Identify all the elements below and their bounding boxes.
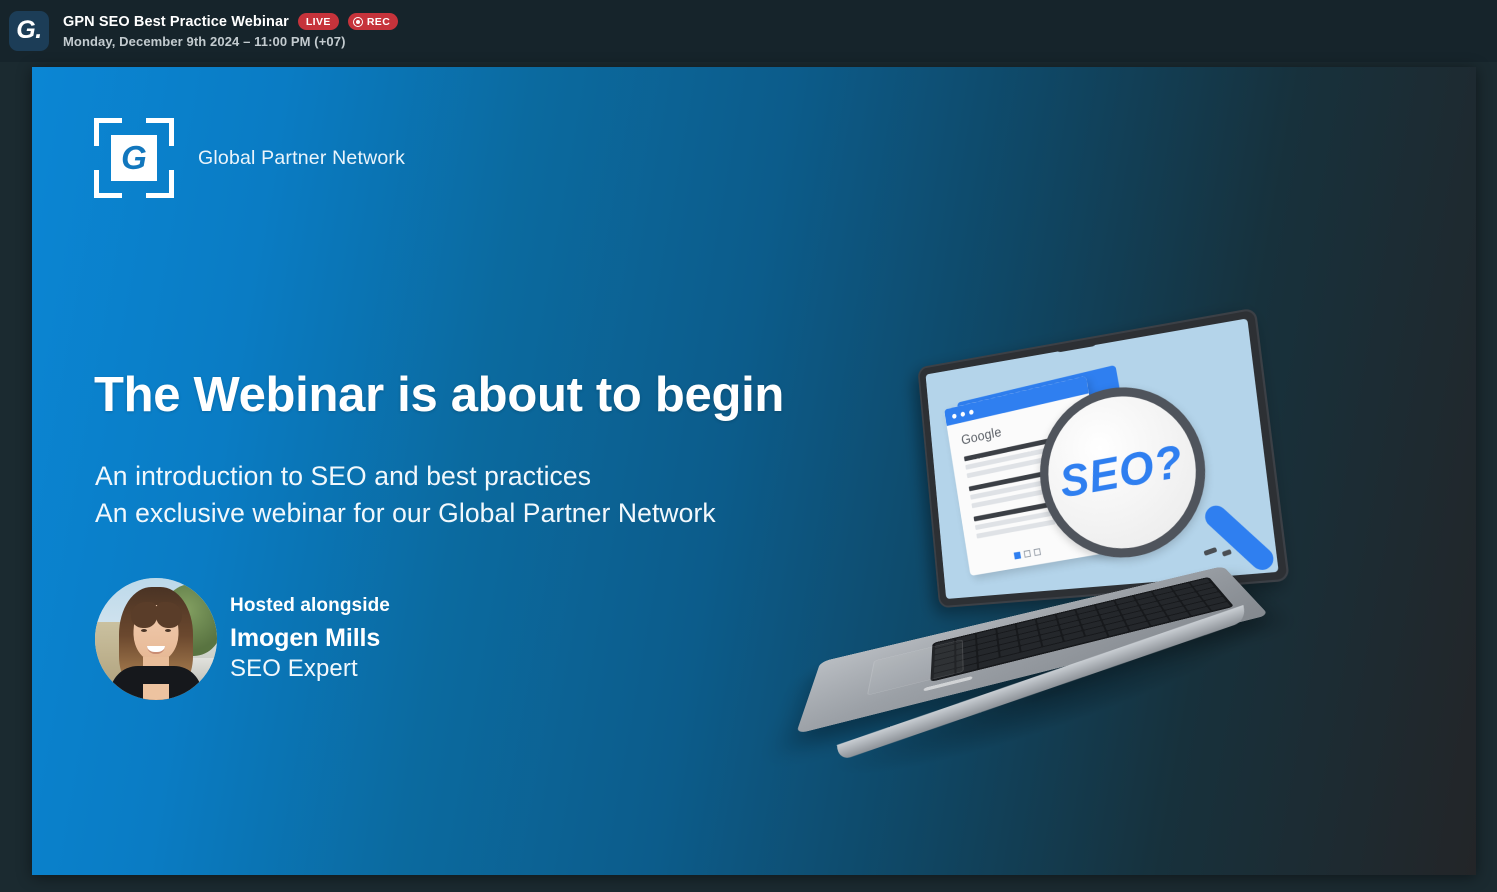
gpn-logo-lockup: G Global Partner Network — [94, 118, 405, 198]
slide-subhead-line-1: An introduction to SEO and best practice… — [95, 458, 716, 495]
gpn-logo-mark-icon: G — [94, 118, 174, 198]
magnifier-lens: SEO? — [1032, 375, 1215, 564]
slide-headline: The Webinar is about to begin — [94, 367, 784, 423]
laptop-screen: Google — [926, 318, 1279, 599]
host-prefix: Hosted alongside — [230, 595, 390, 617]
host-role: SEO Expert — [230, 655, 390, 683]
laptop-trackpad — [867, 639, 964, 695]
meeting-title: GPN SEO Best Practice Webinar — [63, 14, 289, 30]
live-badge-label: LIVE — [306, 16, 331, 28]
meeting-datetime: Monday, December 9th 2024 – 11:00 PM (+0… — [63, 34, 398, 49]
magnifier-label: SEO? — [1056, 434, 1187, 508]
browser-dot-icon — [952, 413, 957, 419]
browser-footer-dot-icon — [1014, 552, 1021, 560]
host-name: Imogen Mills — [230, 624, 390, 653]
laptop-illustration: Google — [694, 212, 1391, 842]
record-icon — [353, 17, 363, 27]
slide-subhead-line-2: An exclusive webinar for our Global Part… — [95, 495, 716, 532]
recording-status-badge: REC — [348, 13, 398, 30]
browser-dot-icon — [969, 409, 974, 415]
meeting-top-bar: G. GPN SEO Best Practice Webinar LIVE RE… — [0, 0, 1497, 62]
live-status-badge: LIVE — [298, 13, 339, 30]
meeting-info: GPN SEO Best Practice Webinar LIVE REC M… — [63, 13, 398, 49]
rec-badge-label: REC — [367, 16, 390, 28]
brand-logo-badge: G. — [9, 11, 49, 51]
browser-footer-icons — [1014, 548, 1041, 559]
browser-footer-dot-icon — [1024, 550, 1031, 558]
presentation-slide[interactable]: G Global Partner Network The Webinar is … — [32, 67, 1476, 875]
browser-footer-dot-icon — [1034, 548, 1042, 556]
host-block: Hosted alongside Imogen Mills SEO Expert — [95, 578, 390, 700]
gpn-wordmark: Global Partner Network — [198, 147, 405, 170]
slide-subhead: An introduction to SEO and best practice… — [95, 458, 716, 531]
brand-logo-letter: G. — [16, 18, 41, 43]
gpn-logo-letter-tile: G — [111, 135, 157, 181]
laptop-lid: Google — [917, 307, 1290, 608]
magnifying-glass-icon: SEO? — [1032, 375, 1215, 564]
meeting-title-row: GPN SEO Best Practice Webinar LIVE REC — [63, 13, 398, 30]
host-text: Hosted alongside Imogen Mills SEO Expert — [230, 595, 390, 683]
gpn-logo-letter: G — [121, 141, 147, 174]
browser-dot-icon — [960, 411, 965, 417]
magnifier-handle — [1201, 501, 1279, 574]
host-avatar — [95, 578, 217, 700]
